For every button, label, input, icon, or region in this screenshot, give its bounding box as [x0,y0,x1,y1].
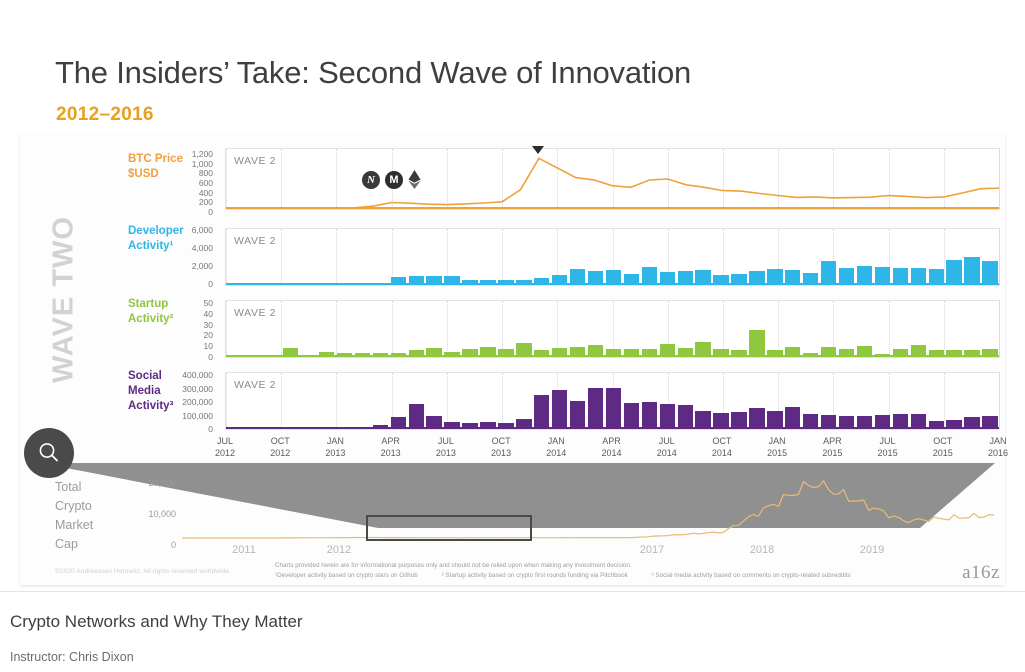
x-tick: OCT2013 [491,436,511,459]
x-tick-year: 2014 [657,448,677,460]
bar [570,401,585,429]
panel-developer-activity: WAVE 2 [225,228,1000,286]
bar [534,395,549,429]
bar [785,407,800,429]
overview-tick: 10,000 [148,509,176,519]
x-tick: APR2013 [381,436,401,459]
x-tick-month: JAN [325,436,345,448]
x-tick-year: 2014 [712,448,732,460]
footnote-3: ³ Social media activity based on comment… [652,572,851,579]
zoom-selection-rectangle[interactable] [366,515,532,541]
x-tick-year: 2015 [822,448,842,460]
bar [678,405,693,429]
divider [0,591,1025,592]
x-tick-month: JUL [657,436,677,448]
y-tick: 20 [204,331,213,340]
x-tick-month: OCT [270,436,290,448]
y-tick: 400,000 [182,371,213,380]
y-tick: 200,000 [182,398,213,407]
slide-stage: The Insiders’ Take: Second Wave of Innov… [0,0,1025,672]
overview-label-line: Crypto [55,497,115,516]
course-title: Crypto Networks and Why They Matter [10,612,303,632]
page-title: The Insiders’ Take: Second Wave of Innov… [55,55,691,91]
gridline [226,229,228,285]
bar [409,404,424,429]
x-tick-month: JUL [436,436,456,448]
x-tick-month: JAN [988,436,1008,448]
bar [946,260,961,285]
y-tick: 50 [204,299,213,308]
gridline [392,301,394,357]
gridline [889,301,891,357]
y-tick: 0 [208,280,213,289]
disclaimer-text: Charts provided herein are for informati… [275,562,632,569]
a16z-logo: a16z [962,562,1000,584]
x-axis: JUL2012OCT2012JAN2013APR2013JUL2013OCT20… [225,436,1000,466]
x-tick-year: 2013 [491,448,511,460]
gridline [336,229,338,285]
gridline [999,229,1001,285]
bar [964,257,979,285]
ethereum-logo [408,170,421,189]
overview-label-line: Total [55,478,115,497]
overview-year: 2012 [327,544,351,556]
x-tick-month: APR [822,436,842,448]
x-tick: APR2014 [601,436,621,459]
bar [588,388,603,429]
gridline [226,301,228,357]
x-tick-month: OCT [491,436,511,448]
y-axis-startup-activity: 50403020100 [168,299,213,357]
x-tick-year: 2014 [601,448,621,460]
y-axis-btc-price: 1,2001,0008006004002000 [168,150,213,212]
x-tick: JUL2012 [215,436,235,459]
x-tick-year: 2016 [988,448,1008,460]
overview-tick: 0 [171,540,176,550]
x-tick-month: APR [381,436,401,448]
coin-logo-row: NM [362,170,421,189]
instructor-name: Instructor: Chris Dixon [10,650,134,664]
y-tick: 0 [208,208,213,217]
overview-label-line: Cap [55,535,115,554]
gridline [999,301,1001,357]
x-tick-year: 2015 [933,448,953,460]
gridline [447,373,449,429]
overview-year: 2011 [232,544,256,556]
x-tick-month: OCT [933,436,953,448]
baseline [226,283,999,285]
y-tick: 1,000 [192,160,213,169]
overview-year: 2019 [860,544,884,556]
bar [624,403,639,429]
x-tick: OCT2012 [270,436,290,459]
footnote-list: ¹Developer activity based on crypto star… [275,572,873,579]
gridline [281,229,283,285]
overview-line-chart [182,476,994,544]
copyright-text: ©2020 Andreessen Horowitz. All rights re… [55,568,231,575]
gridline [336,373,338,429]
magnifier-glyph [36,440,62,466]
bar [660,404,675,429]
y-tick: 1,200 [192,150,213,159]
y-tick: 0 [208,353,213,362]
y-tick: 300,000 [182,385,213,394]
y-tick: 4,000 [192,244,213,253]
y-tick: 6,000 [192,226,213,235]
x-tick-month: JUL [215,436,235,448]
wave-two-side-label: WAVE TWO [44,140,84,460]
baseline [226,207,999,209]
footnote-2: ² Startup activity based on crypto first… [442,572,628,579]
bar [749,408,764,429]
overview-year: 2017 [640,544,664,556]
gridline [999,373,1001,429]
panel-btc-price: WAVE 2 [225,148,1000,210]
y-tick: 400 [199,189,213,198]
x-tick: JUL2015 [878,436,898,459]
panel-startup-activity: WAVE 2 [225,300,1000,358]
baseline [226,427,999,429]
y-tick: 10 [204,342,213,351]
y-tick: 2,000 [192,262,213,271]
gridline [502,229,504,285]
wave-2-tag: WAVE 2 [234,155,276,167]
y-tick: 100,000 [182,412,213,421]
triangle-marker-icon [532,146,544,154]
panel-social-media-activity: WAVE 2 [225,372,1000,430]
x-tick-year: 2013 [436,448,456,460]
page-subtitle: 2012–2016 [56,104,154,126]
y-tick: 200 [199,198,213,207]
gridline [502,373,504,429]
x-tick: OCT2014 [712,436,732,459]
y-tick: 800 [199,169,213,178]
gridline [336,301,338,357]
gridline [944,301,946,357]
x-tick: JAN2016 [988,436,1008,459]
y-tick: 30 [204,321,213,330]
wave-2-tag: WAVE 2 [234,307,276,319]
x-tick-year: 2015 [878,448,898,460]
gridline [999,149,1001,209]
y-axis-developer-activity: 6,0004,0002,0000 [168,226,213,284]
bar [606,388,621,429]
x-tick-year: 2012 [270,448,290,460]
overview-axis-label: Total Crypto Market Cap [55,478,115,554]
x-tick-year: 2014 [546,448,566,460]
gridline [778,301,780,357]
y-tick: 600 [199,179,213,188]
x-tick: JAN2015 [767,436,787,459]
bar [552,390,567,429]
x-tick: JUL2013 [436,436,456,459]
overview-y-ticks: 20,000 10,000 0 [118,478,176,546]
bar [821,261,836,285]
overview-year-labels: 20112012201720182019 [182,544,994,558]
gridline [447,301,449,357]
gridline [226,373,228,429]
y-tick: 40 [204,310,213,319]
x-tick-year: 2015 [767,448,787,460]
x-tick: JAN2014 [546,436,566,459]
line-btc-price [226,149,999,209]
x-tick: OCT2015 [933,436,953,459]
gridline [281,373,283,429]
overview-year: 2018 [750,544,774,556]
overview-plot [182,476,994,544]
x-tick-month: APR [601,436,621,448]
monero-logo: M [385,171,403,189]
x-tick: APR2015 [822,436,842,459]
magnifier-icon[interactable] [24,428,74,478]
overview-tick: 20,000 [148,478,176,488]
y-axis-social-media-activity: 400,000300,000200,000100,0000 [168,371,213,429]
bar [749,330,764,358]
footnote-1: ¹Developer activity based on crypto star… [275,572,418,579]
wave-2-tag: WAVE 2 [234,379,276,391]
wave-2-tag: WAVE 2 [234,235,276,247]
x-tick-month: JUL [878,436,898,448]
x-tick-month: JAN [767,436,787,448]
y-tick: 0 [208,425,213,434]
x-tick-month: JAN [546,436,566,448]
bar [642,402,657,430]
overview-label-line: Market [55,516,115,535]
bar [982,261,997,285]
x-tick-year: 2013 [381,448,401,460]
baseline [226,355,999,357]
nem-logo: N [362,171,380,189]
x-tick-month: OCT [712,436,732,448]
x-tick: JUL2014 [657,436,677,459]
x-tick-year: 2012 [215,448,235,460]
x-tick: JAN2013 [325,436,345,459]
x-tick-year: 2013 [325,448,345,460]
